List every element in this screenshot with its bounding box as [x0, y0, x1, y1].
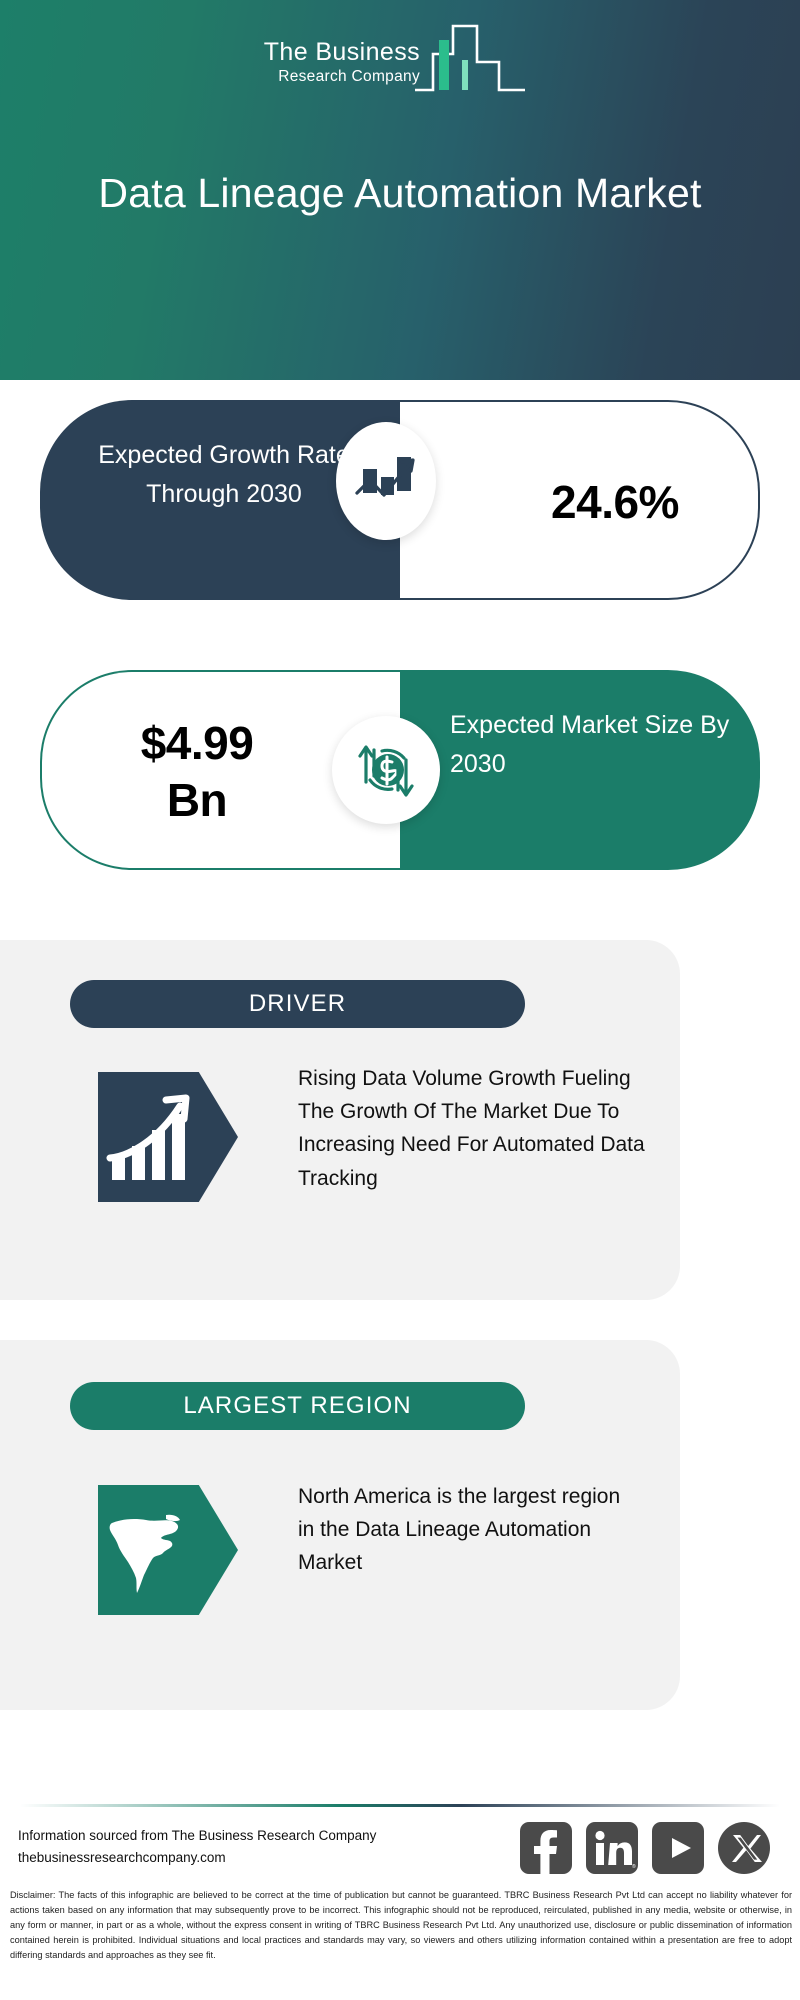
stat-card-label: Expected Growth Rate Through 2030	[74, 436, 374, 514]
largest-region-pill: LARGEST REGION	[70, 1382, 525, 1430]
disclaimer-text: Disclaimer: The facts of this infographi…	[10, 1888, 792, 1963]
x-twitter-icon[interactable]	[718, 1822, 770, 1874]
logo-line-1: The Business	[215, 40, 420, 65]
driver-pill: DRIVER	[70, 980, 525, 1028]
linkedin-glyph: ®	[586, 1822, 638, 1874]
youtube-icon[interactable]	[652, 1822, 704, 1874]
stat-card-value-panel: 24.6%	[400, 400, 760, 600]
footer-source-url[interactable]: thebusinessresearchcompany.com	[18, 1847, 438, 1869]
footer-divider	[20, 1804, 780, 1807]
growth-chart-arrow-icon	[355, 453, 417, 509]
logo-line-2: Research Company	[215, 65, 420, 88]
driver-panel: DRIVER Rising Data Volume Growth Fueling…	[0, 940, 680, 1300]
largest-region-panel: LARGEST REGION North America is the larg…	[0, 1340, 680, 1710]
largest-region-pill-label: LARGEST REGION	[183, 1392, 411, 1420]
stat-card-icon-badge	[336, 422, 436, 540]
facebook-glyph	[520, 1822, 572, 1874]
youtube-glyph	[652, 1822, 704, 1874]
bar-chart-logo-icon	[415, 18, 525, 98]
footer-source-line-1: Information sourced from The Business Re…	[18, 1825, 438, 1847]
x-glyph	[718, 1822, 770, 1874]
stat-card-value: $4.99	[141, 715, 254, 773]
north-america-map-icon	[106, 1499, 201, 1599]
stat-card-label: Expected Market Size By 2030	[450, 706, 750, 784]
largest-region-description: North America is the largest region in t…	[298, 1480, 638, 1580]
driver-pill-label: DRIVER	[249, 990, 346, 1018]
stat-card-label-panel: Expected Market Size By 2030	[400, 670, 760, 870]
stat-card-market-size: $4.99 Bn Expected Market Size By 2030	[40, 670, 760, 870]
linkedin-icon[interactable]: ®	[586, 1822, 638, 1874]
social-links: ®	[520, 1822, 782, 1874]
stat-card-growth-rate: Expected Growth Rate Through 2030 24.6%	[40, 400, 760, 600]
company-logo: The Business Research Company	[215, 18, 525, 103]
stat-card-icon-badge	[332, 716, 440, 824]
rising-bar-chart-icon	[106, 1086, 201, 1186]
stat-card-value: 24.6%	[400, 402, 760, 602]
footer-source: Information sourced from The Business Re…	[18, 1825, 438, 1870]
driver-icon-shape	[98, 1072, 238, 1202]
stat-card-value-unit: Bn	[167, 772, 227, 830]
facebook-icon[interactable]	[520, 1822, 572, 1874]
header-banner: The Business Research Company Data Linea…	[0, 0, 800, 380]
driver-description: Rising Data Volume Growth Fueling The Gr…	[298, 1062, 658, 1195]
dollar-exchange-icon	[352, 736, 420, 804]
largest-region-icon-shape	[98, 1485, 238, 1615]
page-title: Data Lineage Automation Market	[60, 168, 740, 218]
stat-card-value-group: $4.99 Bn	[72, 672, 322, 872]
logo-wordmark: The Business Research Company	[215, 40, 420, 88]
svg-text:®: ®	[632, 1863, 636, 1870]
